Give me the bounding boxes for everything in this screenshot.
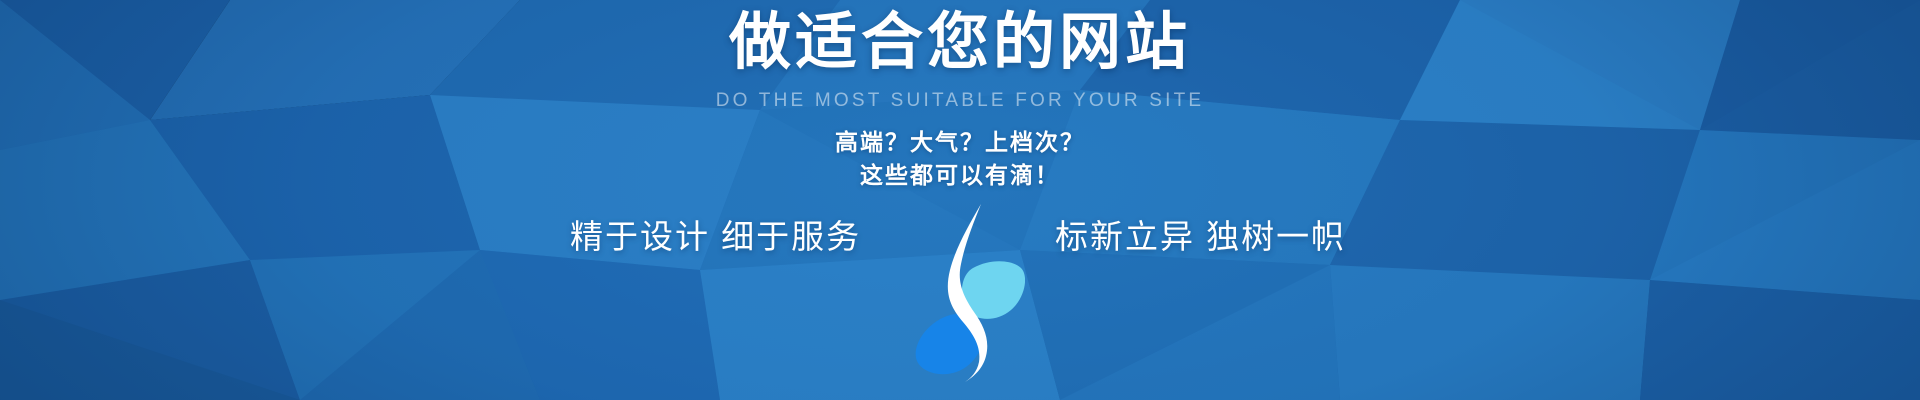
tagline-line-2: 这些都可以有滴！ xyxy=(0,159,1920,192)
tagline-line-1: 高端？大气？上档次？ xyxy=(0,126,1920,159)
banner-headline: 做适合您的网站 xyxy=(0,8,1920,77)
logo-svg xyxy=(895,198,1025,383)
tagline-block: 高端？大气？上档次？ 这些都可以有滴！ xyxy=(0,126,1920,191)
hero-banner: 做适合您的网站 DO THE MOST SUITABLE FOR YOUR SI… xyxy=(0,0,1920,400)
slogan-right: 标新立异 独树一帜 xyxy=(1055,210,1346,258)
slogan-left: 精于设计 细于服务 xyxy=(570,210,861,258)
leaf-swirl-logo xyxy=(895,198,1025,383)
banner-subline: DO THE MOST SUITABLE FOR YOUR SITE xyxy=(0,90,1920,112)
